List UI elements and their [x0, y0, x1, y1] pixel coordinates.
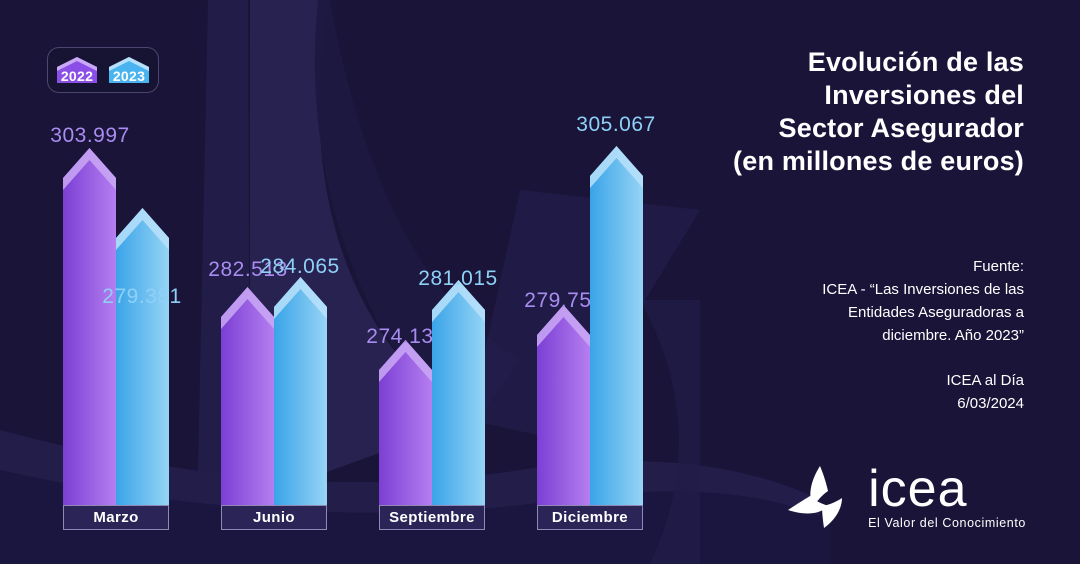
icea-word: icea: [868, 464, 967, 514]
source-spacer: [704, 347, 1024, 369]
bar-marzo-2023: [116, 208, 169, 530]
icea-tagline: El Valor del Conocimiento: [868, 516, 1026, 530]
title-line-4: (en millones de euros): [724, 145, 1024, 178]
info-panel: Evolución de las Inversiones del Sector …: [700, 0, 1080, 564]
value-diciembre-2023: 305.067: [562, 113, 670, 137]
source-note: Fuente: ICEA - “Las Inversiones de las E…: [704, 255, 1024, 415]
bar-diciembre-2023: [590, 146, 643, 530]
bar-diciembre-2022: [537, 305, 590, 530]
title-line-1: Evolución de las: [724, 46, 1024, 79]
source-line-3: Entidades Aseguradoras a: [704, 301, 1024, 324]
publication-name: ICEA al Día: [704, 369, 1024, 392]
icea-wordmark: icea El Valor del Conocimiento: [868, 464, 1026, 530]
category-label-marzo: Marzo: [63, 505, 169, 530]
category-label-junio: Junio: [221, 505, 327, 530]
bar-chart: 303.997 279.381 Marzo: [0, 0, 700, 564]
source-line-2: ICEA - “Las Inversiones de las: [704, 278, 1024, 301]
title-line-2: Inversiones del: [724, 79, 1024, 112]
value-junio-2023: 284.065: [246, 255, 354, 279]
icea-logo: icea El Valor del Conocimiento: [784, 460, 1026, 534]
category-label-diciembre: Diciembre: [537, 505, 643, 530]
infographic-canvas: 2022 2023 303.997: [0, 0, 1080, 564]
value-marzo-2023: 279.381: [88, 285, 196, 309]
bar-junio-2022: [221, 287, 274, 530]
source-line-1: Fuente:: [704, 255, 1024, 278]
icea-trefoil-icon: [784, 460, 858, 534]
bar-septiembre-2023: [432, 280, 485, 530]
source-line-4: diciembre. Año 2023”: [704, 324, 1024, 347]
title-line-3: Sector Asegurador: [724, 112, 1024, 145]
value-marzo-2022: 303.997: [36, 124, 144, 148]
value-septiembre-2023: 281.015: [404, 267, 512, 291]
bar-junio-2023: [274, 277, 327, 530]
bar-septiembre-2022: [379, 340, 432, 530]
bar-marzo-2022: [63, 148, 116, 530]
category-label-septiembre: Septiembre: [379, 505, 485, 530]
publication-date: 6/03/2024: [704, 392, 1024, 415]
page-title: Evolución de las Inversiones del Sector …: [724, 46, 1024, 178]
